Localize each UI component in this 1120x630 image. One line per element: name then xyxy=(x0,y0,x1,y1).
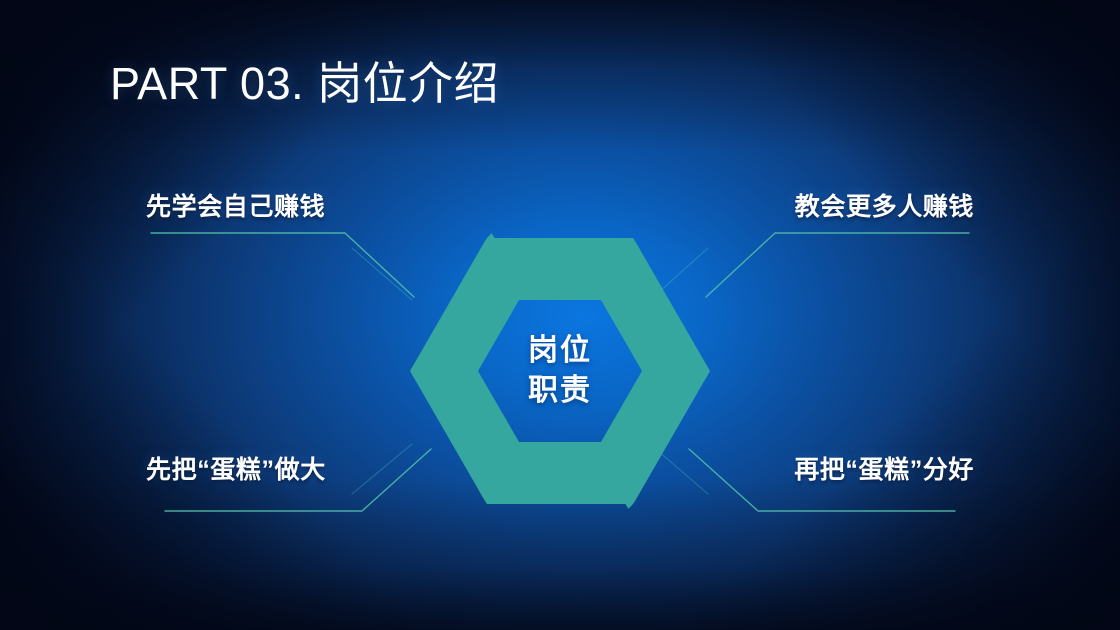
node-label-bottom-left: 先把“蛋糕”做大 xyxy=(146,450,326,486)
node-label-bottom-right: 再把“蛋糕”分好 xyxy=(794,450,974,486)
hexagon-graphic xyxy=(398,218,722,524)
page-title-text: PART 03. 岗位介绍 xyxy=(110,58,499,109)
connector-top-right xyxy=(706,233,969,297)
hexagon-svg xyxy=(398,218,722,524)
node-label-top-right: 教会更多人赚钱 xyxy=(795,187,974,223)
page-title: PART 03. 岗位介绍 xyxy=(110,60,499,109)
connector-top-left xyxy=(151,233,414,297)
slide-canvas: 岗位 职责 PART 03. 岗位介绍 先学会自己赚钱 教会更多人赚钱 先把“蛋… xyxy=(0,0,1120,630)
node-label-top-left: 先学会自己赚钱 xyxy=(146,187,325,223)
